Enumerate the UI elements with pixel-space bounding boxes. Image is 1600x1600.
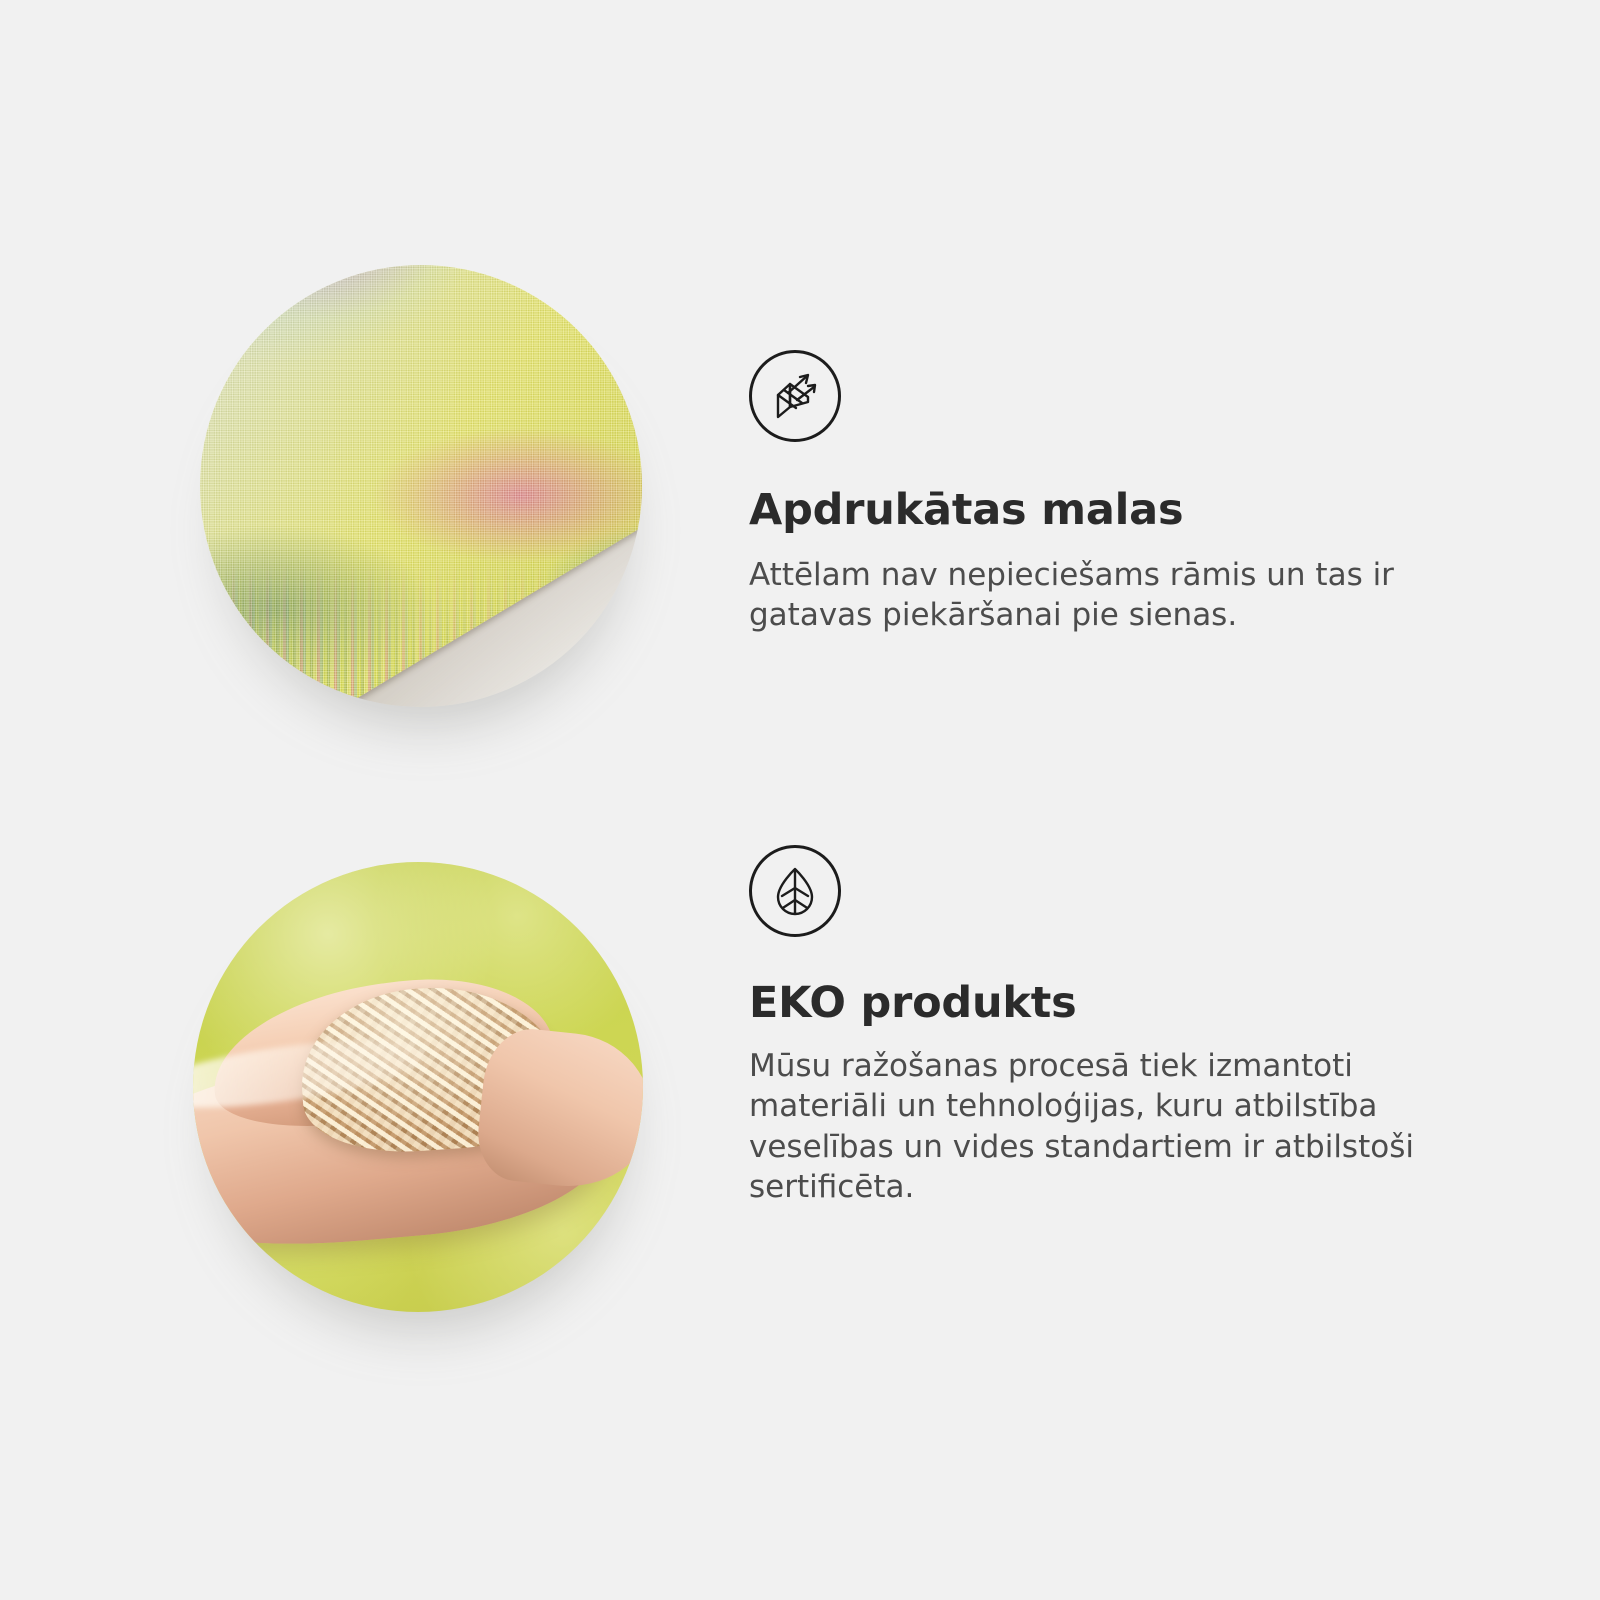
photo-circle-mask <box>193 862 643 1312</box>
feature-block-printed-edges: Apdrukātas malas Attēlam nav nepieciešam… <box>0 240 1600 760</box>
leaf-glyph <box>768 864 822 918</box>
feature-1-content: Apdrukātas malas Attēlam nav nepieciešam… <box>749 350 1489 636</box>
wood-chips-in-hands-photo <box>193 862 643 1312</box>
feature-2-title: EKO produkts <box>749 981 1489 1026</box>
feature-2-content: EKO produkts Mūsu ražošanas procesā tiek… <box>749 845 1489 1207</box>
canvas-wrapped-edge-glyph <box>766 367 824 425</box>
feature-1-description: Attēlam nav nepieciešams rāmis un tas ir… <box>749 555 1449 636</box>
feature-panel: Apdrukātas malas Attēlam nav nepieciešam… <box>0 0 1600 1600</box>
feature-2-description: Mūsu ražošanas procesā tiek izmantoti ma… <box>749 1046 1461 1207</box>
canvas-corner-photo <box>200 265 642 707</box>
canvas-scene <box>200 265 642 707</box>
hand-fingers <box>473 1024 643 1194</box>
meadow-background <box>193 862 643 1312</box>
leaf-icon <box>749 845 841 937</box>
photo-circle-mask <box>200 265 642 707</box>
feature-1-title: Apdrukātas malas <box>749 488 1489 533</box>
canvas-wrapped-edge-icon <box>749 350 841 442</box>
feature-block-eco-product: EKO produkts Mūsu ražošanas procesā tiek… <box>0 840 1600 1360</box>
